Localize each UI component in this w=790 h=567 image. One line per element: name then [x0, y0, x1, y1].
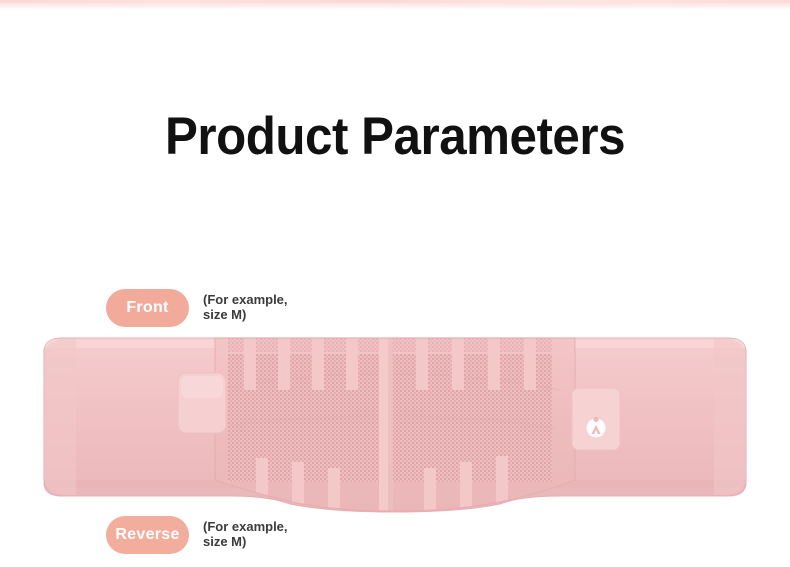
- reverse-size-note: (For example, size M): [203, 516, 288, 549]
- front-size-note-line-2: size M): [203, 307, 288, 322]
- reverse-size-note-line-1: (For example,: [203, 519, 288, 534]
- velcro-patch-left: [178, 373, 226, 433]
- front-caption-group: Front (For example, size M): [106, 289, 288, 327]
- reverse-side-pill: Reverse: [106, 516, 189, 554]
- brand-tag: [572, 388, 620, 450]
- reverse-size-note-line-2: size M): [203, 534, 288, 549]
- reverse-caption-group: Reverse (For example, size M): [106, 516, 288, 554]
- front-size-note: (For example, size M): [203, 289, 288, 322]
- lumbar-support-belt-illustration: [0, 330, 790, 515]
- product-image-stage: [0, 330, 790, 515]
- page-title: Product Parameters: [28, 106, 763, 167]
- top-accent-band: [0, 0, 790, 9]
- front-side-pill: Front: [106, 289, 189, 327]
- front-size-note-line-1: (For example,: [203, 292, 288, 307]
